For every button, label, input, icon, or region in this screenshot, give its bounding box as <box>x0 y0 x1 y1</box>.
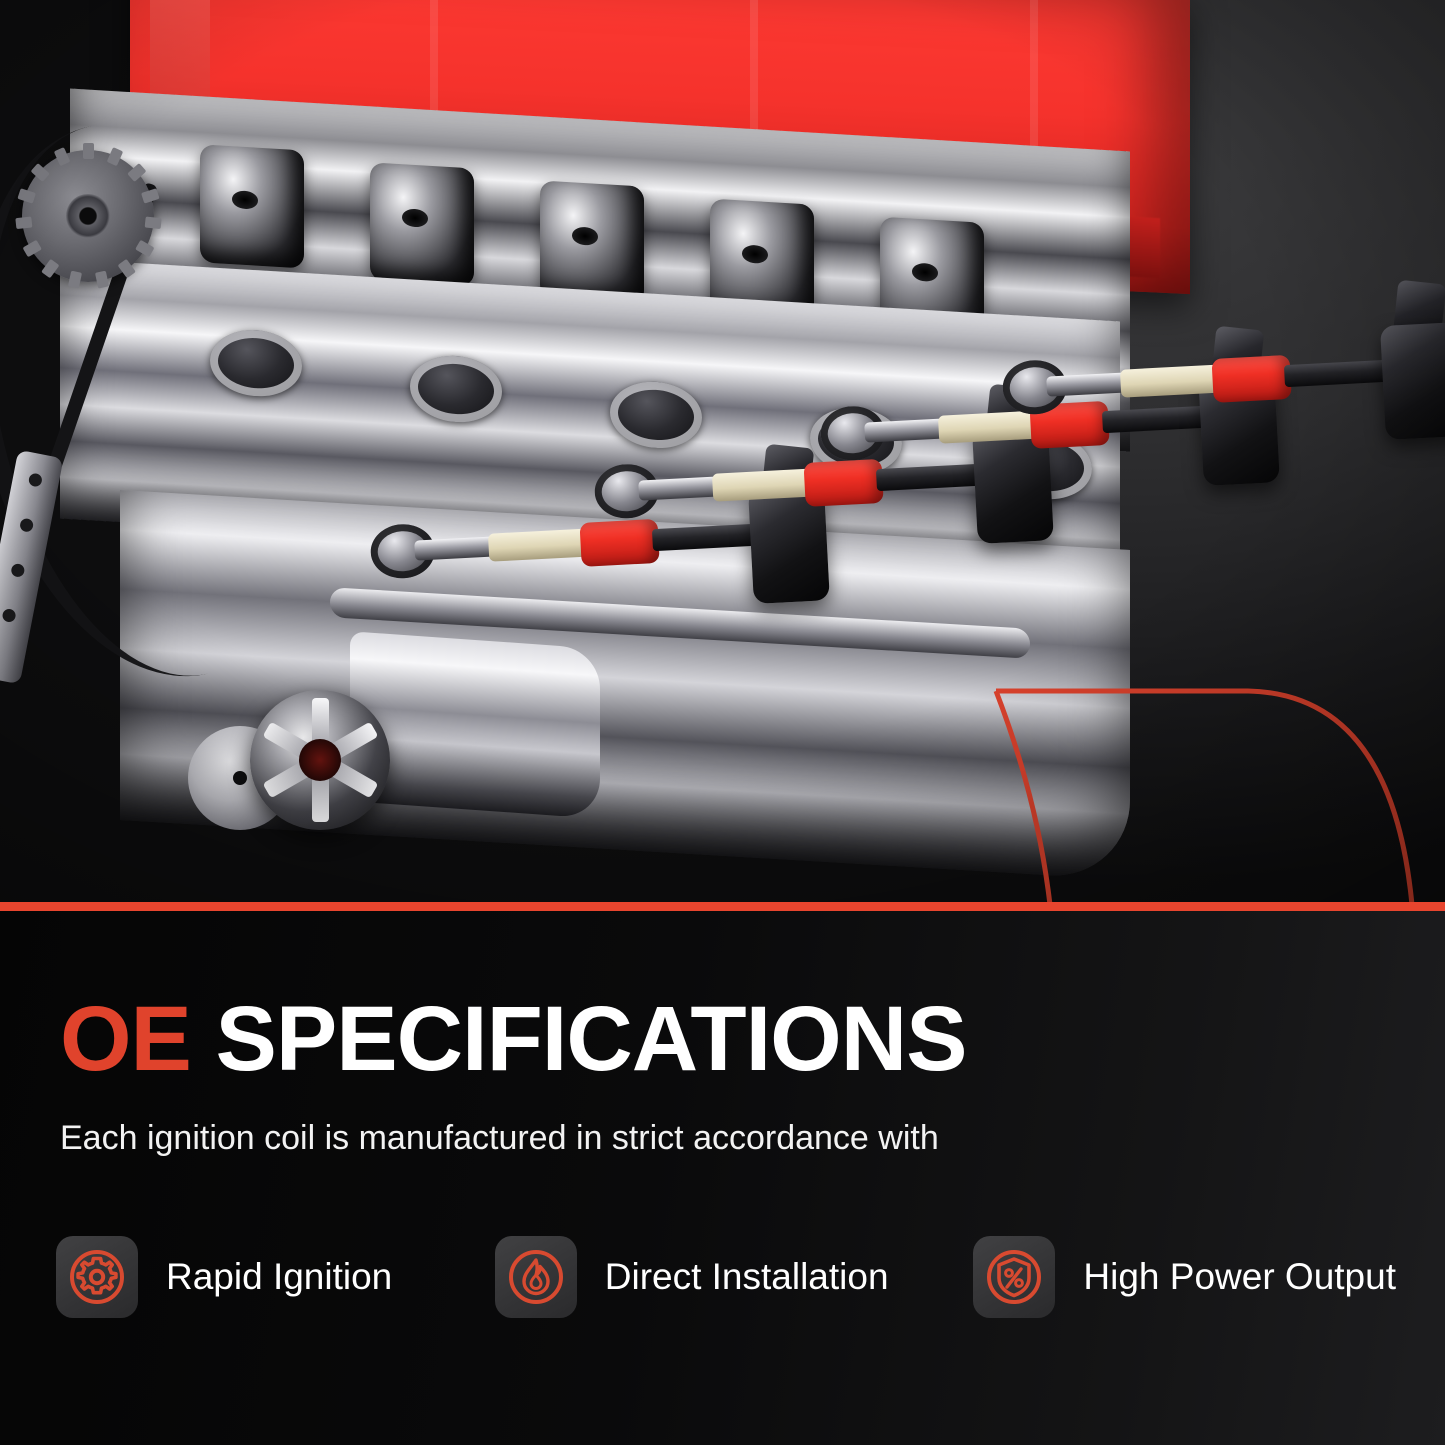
feature-label: High Power Output <box>1083 1256 1396 1298</box>
title-rest: SPECIFICATIONS <box>191 988 967 1090</box>
feature-icon-tile <box>973 1236 1055 1318</box>
shield-percent-icon <box>985 1248 1043 1306</box>
page-title: OE SPECIFICATIONS <box>60 993 967 1085</box>
chrome-exhaust-tip <box>350 631 600 818</box>
feature-item: High Power Output <box>973 1236 1396 1318</box>
gear-icon <box>68 1248 126 1306</box>
accent-divider <box>0 902 1445 911</box>
product-feature-banner: OE SPECIFICATIONS Each ignition coil is … <box>0 0 1445 1445</box>
decorative-curve <box>960 650 1445 902</box>
title-accent-word: OE <box>60 988 191 1090</box>
subtitle: Each ignition coil is manufactured in st… <box>60 1118 939 1158</box>
feature-list: Rapid Ignition Direct Installation <box>56 1236 1396 1318</box>
engine-hero-photo <box>0 0 1445 902</box>
crank-pulley-wheel <box>250 690 390 830</box>
feature-label: Direct Installation <box>605 1256 889 1298</box>
feature-item: Rapid Ignition <box>56 1236 495 1318</box>
timing-sprocket-icon <box>22 150 154 282</box>
feature-icon-tile <box>495 1236 577 1318</box>
feature-label: Rapid Ignition <box>166 1256 392 1298</box>
flame-icon <box>507 1248 565 1306</box>
feature-icon-tile <box>56 1236 138 1318</box>
feature-item: Direct Installation <box>495 1236 974 1318</box>
